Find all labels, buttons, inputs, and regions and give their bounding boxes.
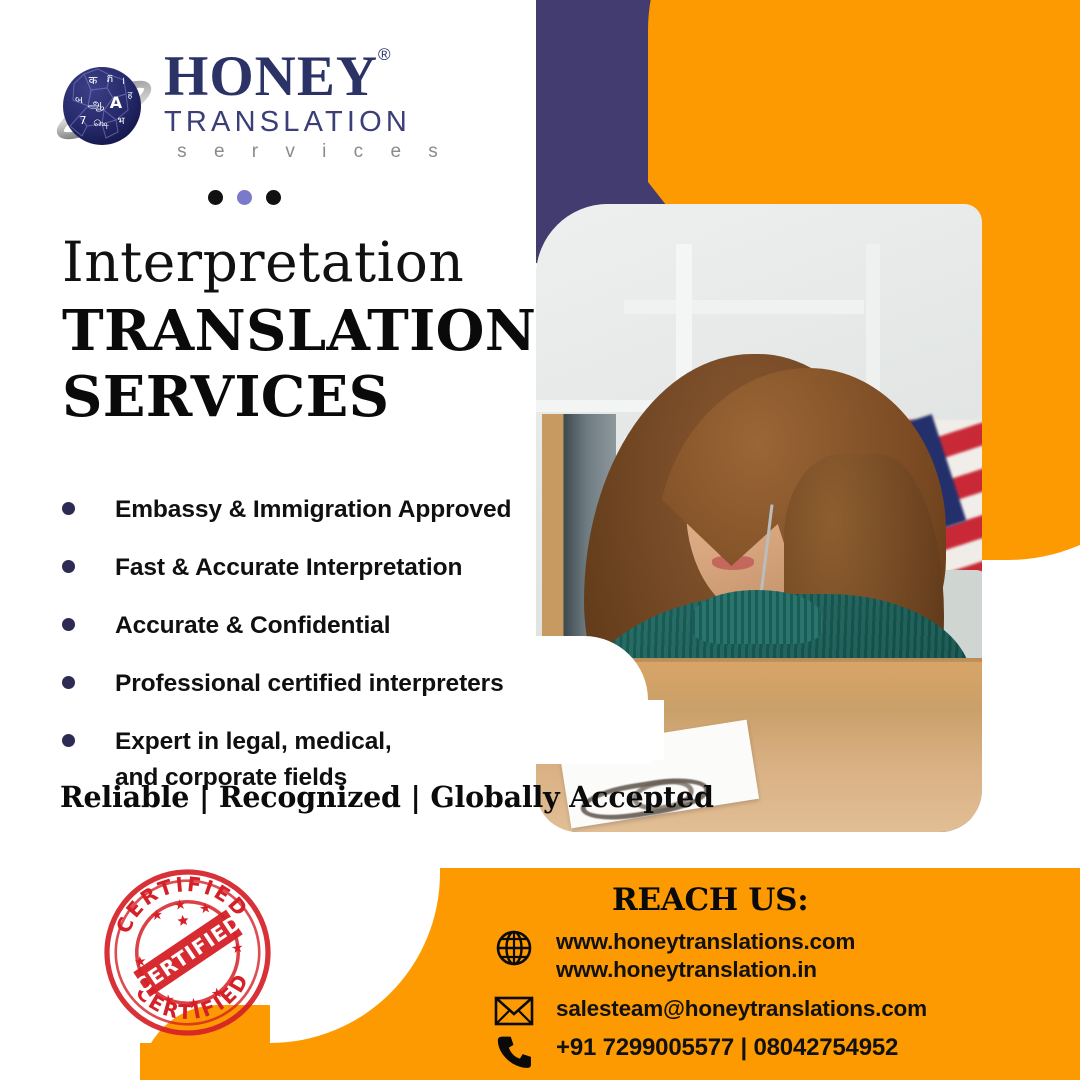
logo-dot-3 — [266, 190, 281, 205]
website-links[interactable]: www.honeytranslations.com www.honeytrans… — [556, 928, 855, 984]
globe-icon — [494, 928, 534, 973]
envelope-icon — [494, 995, 534, 1032]
registered-trademark-icon: ® — [378, 45, 392, 64]
bullet-icon — [62, 502, 75, 515]
svg-text:क: क — [89, 74, 98, 87]
logo-dot-1 — [208, 190, 223, 205]
svg-text:௸: ௸ — [93, 118, 109, 129]
list-item-label: Professional certified interpreters — [115, 666, 504, 702]
phone-icon — [494, 1033, 534, 1078]
brand-subtitle: TRANSLATION — [164, 107, 454, 137]
contact-row-email[interactable]: salesteam@honeytranslations.com — [494, 995, 927, 1032]
bullet-icon — [62, 618, 75, 631]
list-item: Professional certified interpreters — [50, 666, 550, 702]
bullet-icon — [62, 734, 75, 747]
svg-text:भ: भ — [117, 116, 125, 127]
poster-canvas: क ភ । બ ஆ A ह 7 ௸ भ HONEY® TRANSLATION s… — [0, 0, 1080, 1080]
headline-bold-line-1: TRANSLATION — [62, 298, 532, 364]
headline-bold-block: TRANSLATION SERVICES — [62, 298, 532, 430]
certified-stamp: CERTIFIED CERTIFIED ★★★ ★★★ ★★ CERTIFIED — [89, 854, 287, 1052]
brand-name: HONEY® — [164, 48, 454, 105]
svg-text:★: ★ — [161, 992, 176, 1010]
bullet-icon — [62, 676, 75, 689]
svg-text:ஆ: ஆ — [88, 97, 105, 112]
list-item-label: Fast & Accurate Interpretation — [115, 550, 462, 586]
headline-block: Interpretation TRANSLATION SERVICES — [62, 234, 532, 430]
svg-text:★: ★ — [150, 907, 165, 925]
brand-wordmark: HONEY® TRANSLATION s e r v i c e s — [164, 48, 454, 163]
list-item-label: Accurate & Confidential — [115, 608, 390, 644]
feature-list: Embassy & Immigration Approved Fast & Ac… — [50, 492, 550, 818]
headline-script-line: Interpretation — [62, 234, 532, 292]
logo-dot-2 — [237, 190, 252, 205]
phone-numbers[interactable]: +91 7299005577 | 08042754952 — [556, 1033, 898, 1063]
bullet-icon — [62, 560, 75, 573]
list-item: Accurate & Confidential — [50, 608, 550, 644]
svg-text:ह: ह — [128, 91, 133, 101]
photo-sweater-collar — [692, 590, 822, 644]
contact-row-website[interactable]: www.honeytranslations.com www.honeytrans… — [494, 928, 855, 984]
list-item: Embassy & Immigration Approved — [50, 492, 550, 528]
brand-subtitle-services: s e r v i c e s — [164, 141, 454, 163]
list-item: Fast & Accurate Interpretation — [50, 550, 550, 586]
svg-text:★: ★ — [187, 995, 202, 1013]
brand-logo[interactable]: क ភ । બ ஆ A ह 7 ௸ भ HONEY® TRANSLATION s… — [52, 48, 452, 173]
list-item-label: Embassy & Immigration Approved — [115, 492, 511, 528]
contact-row-phone[interactable]: +91 7299005577 | 08042754952 — [494, 1033, 898, 1078]
globe-languages-icon: क ភ । બ ஆ A ह 7 ௸ भ — [52, 56, 156, 160]
photo-shelf-bar — [624, 300, 864, 314]
svg-text:બ: બ — [75, 95, 83, 106]
svg-text:ភ: ភ — [107, 72, 114, 85]
tagline: Reliable | Recognized | Globally Accepte… — [60, 780, 714, 814]
svg-text:A: A — [110, 93, 123, 112]
email-address[interactable]: salesteam@honeytranslations.com — [556, 995, 927, 1023]
website-link-1[interactable]: www.honeytranslations.com — [556, 929, 855, 954]
svg-text:।: । — [121, 76, 125, 87]
reach-us-title: REACH US: — [612, 882, 808, 918]
svg-text:★: ★ — [210, 985, 225, 1003]
website-link-2[interactable]: www.honeytranslation.in — [556, 957, 817, 982]
svg-text:★: ★ — [198, 900, 213, 918]
headline-bold-line-2: SERVICES — [62, 364, 532, 430]
brand-name-text: HONEY — [164, 45, 378, 108]
svg-text:7: 7 — [80, 114, 87, 127]
svg-text:★: ★ — [173, 897, 188, 915]
svg-text:★: ★ — [230, 940, 245, 958]
logo-dots-divider — [208, 190, 281, 205]
